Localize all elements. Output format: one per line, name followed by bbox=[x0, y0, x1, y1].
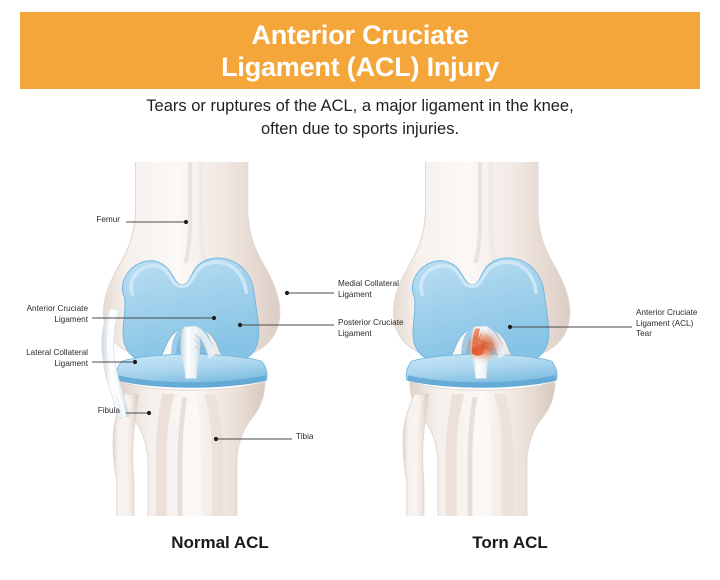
label-acl-line-2: Ligament bbox=[4, 315, 88, 326]
label-acl-tear-line-3: Tear bbox=[636, 329, 720, 340]
label-acl-line-1: Anterior Cruciate bbox=[4, 304, 88, 315]
label-mcl-line-1: Medial Collateral bbox=[338, 279, 430, 290]
caption-torn-acl: Torn ACL bbox=[410, 533, 610, 553]
label-lcl-line-2: Ligament bbox=[4, 359, 88, 370]
label-tibia-line-1: Tibia bbox=[296, 432, 344, 443]
label-pcl-line-2: Ligament bbox=[338, 329, 430, 340]
label-acl-tear-line-1: Anterior Cruciate bbox=[636, 308, 720, 319]
label-anterior-cruciate-ligament: Anterior Cruciate Ligament bbox=[4, 304, 88, 325]
label-mcl-line-2: Ligament bbox=[338, 290, 430, 301]
acl-tear-marker bbox=[463, 328, 504, 362]
label-fibula: Fibula bbox=[58, 406, 120, 417]
label-acl-tear-line-2: Ligament (ACL) bbox=[636, 319, 720, 330]
label-femur: Femur bbox=[56, 215, 120, 226]
label-pcl-line-1: Posterior Cruciate bbox=[338, 318, 430, 329]
label-medial-collateral-ligament: Medial Collateral Ligament bbox=[338, 279, 430, 300]
label-anterior-cruciate-ligament-acl-tear: Anterior Cruciate Ligament (ACL) Tear bbox=[636, 308, 720, 340]
caption-normal-acl: Normal ACL bbox=[120, 533, 320, 553]
normal-acl-knee-illustration bbox=[70, 140, 310, 536]
label-posterior-cruciate-ligament: Posterior Cruciate Ligament bbox=[338, 318, 430, 339]
label-tibia: Tibia bbox=[296, 432, 344, 443]
label-lcl-line-1: Lateral Collateral bbox=[4, 348, 88, 359]
acl-infographic: Anterior Cruciate Ligament (ACL) Injury … bbox=[0, 0, 720, 580]
label-femur-line-1: Femur bbox=[56, 215, 120, 226]
label-lateral-collateral-ligament: Lateral Collateral Ligament bbox=[4, 348, 88, 369]
label-fibula-line-1: Fibula bbox=[58, 406, 120, 417]
